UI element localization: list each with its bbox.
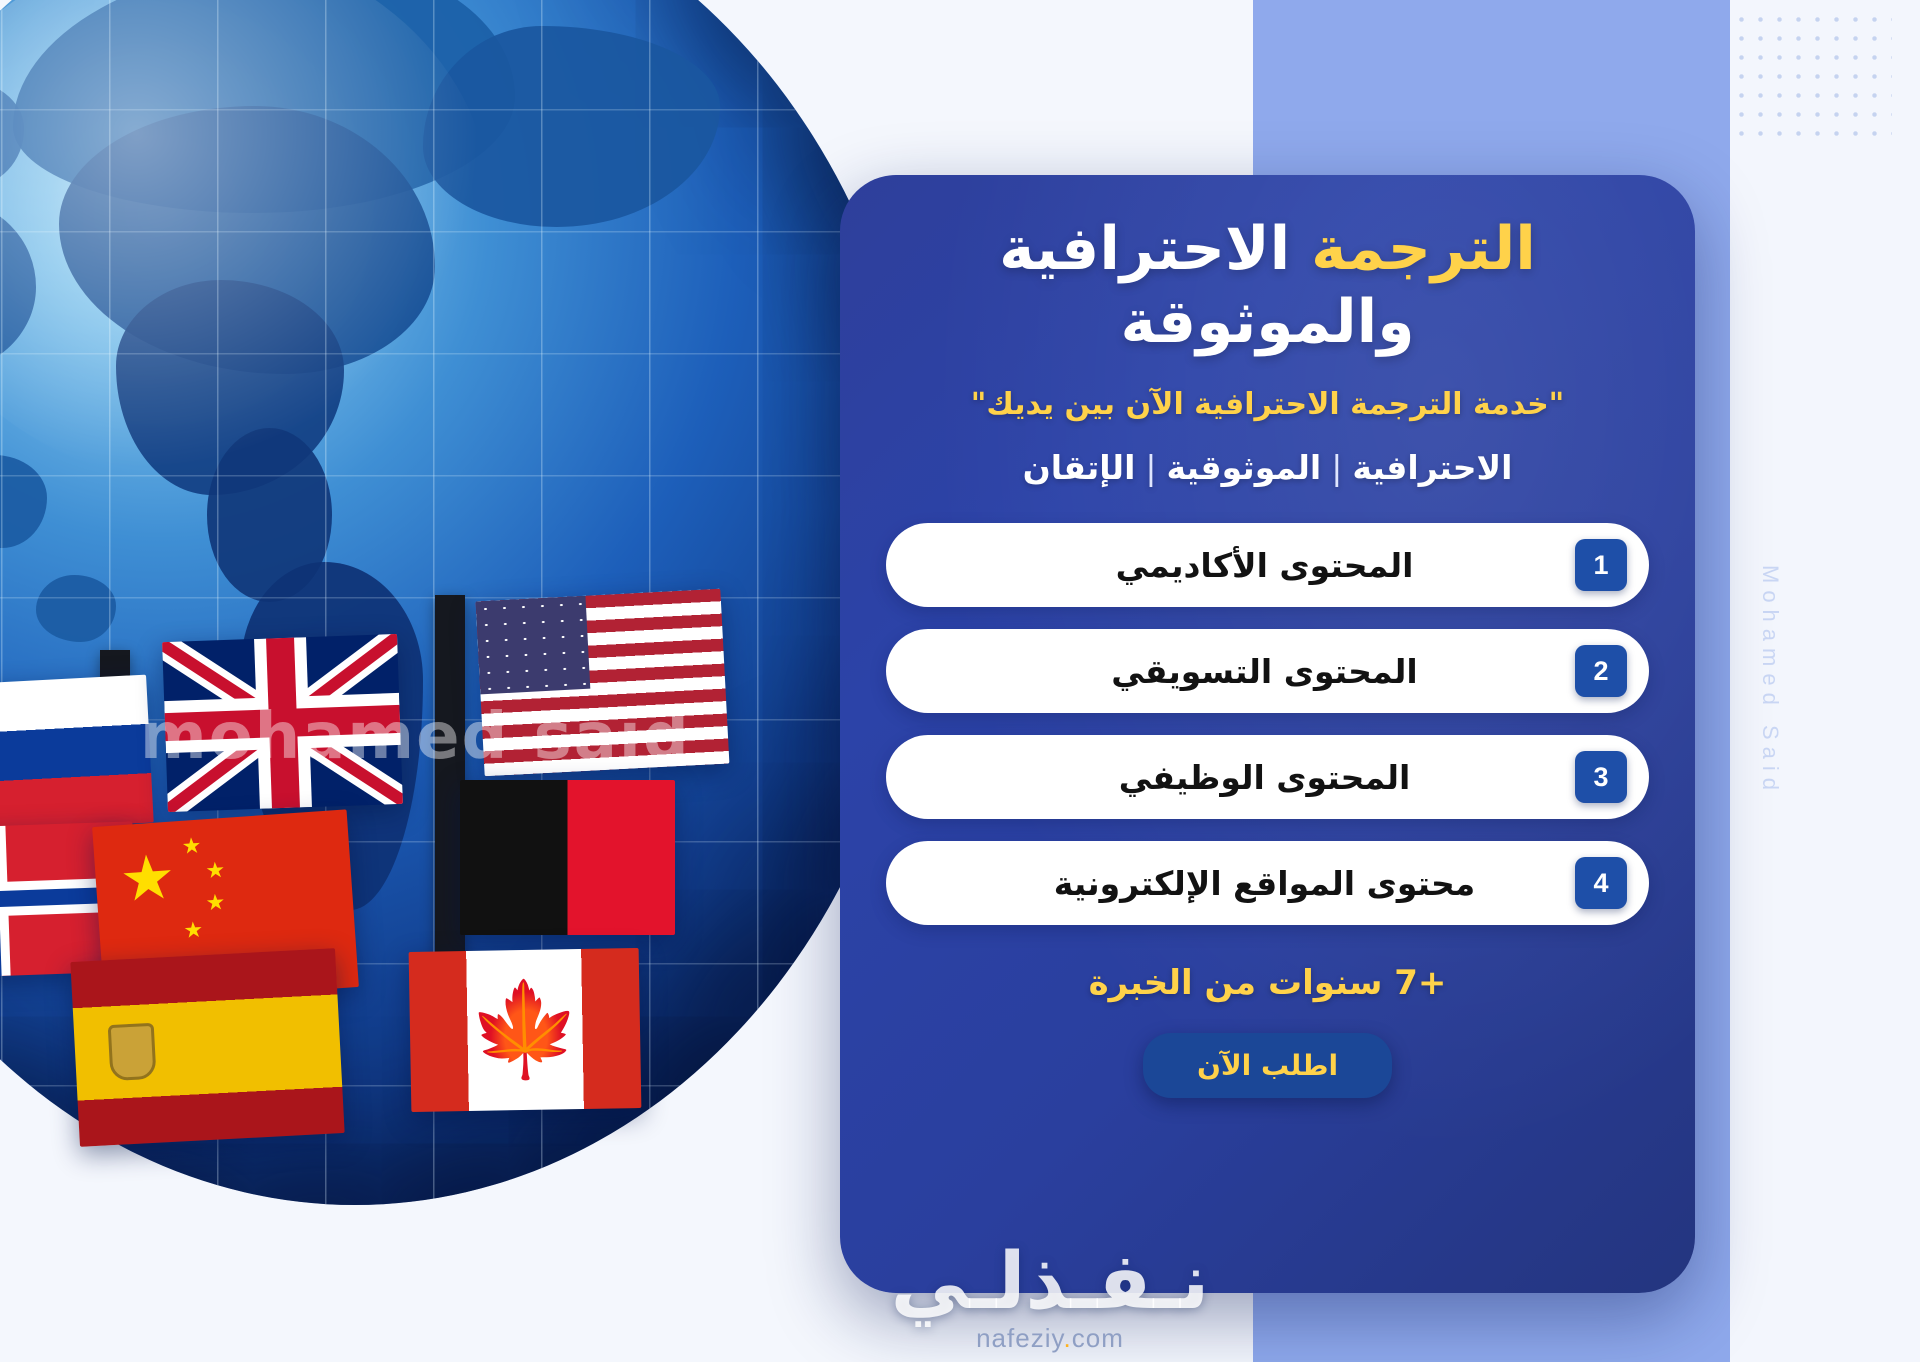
flag-usa bbox=[476, 589, 730, 777]
list-item[interactable]: 3 المحتوى الوظيفي bbox=[886, 735, 1649, 819]
content-card: الترجمة الاحترافية والموثوقة "خدمة الترج… bbox=[840, 175, 1695, 1293]
landmass-shape bbox=[36, 575, 116, 642]
separator-pipe: | bbox=[1321, 448, 1352, 487]
landmass-shape bbox=[207, 428, 332, 602]
flag-russia bbox=[0, 675, 154, 834]
value-prop-3: الإتقان bbox=[1023, 448, 1136, 487]
service-label: المحتوى الوظيفي bbox=[914, 758, 1575, 797]
tagline: "خدمة الترجمة الاحترافية الآن بين يديك" bbox=[971, 387, 1565, 422]
service-label: المحتوى الأكاديمي bbox=[914, 546, 1575, 585]
service-number-badge: 3 bbox=[1575, 751, 1627, 803]
value-props: الاحترافية|الموثوقية|الإتقان bbox=[1023, 448, 1513, 487]
landmass-shape bbox=[0, 79, 24, 186]
service-label: المحتوى التسويقي bbox=[914, 652, 1575, 691]
landmass-shape bbox=[116, 280, 344, 494]
flag-spain bbox=[70, 948, 344, 1147]
flags-cluster: ★ ★ ★ ★ ★ 🍁 bbox=[0, 690, 880, 1330]
service-number-badge: 2 bbox=[1575, 645, 1627, 697]
service-number-badge: 4 bbox=[1575, 857, 1627, 909]
value-prop-1: الاحترافية bbox=[1352, 448, 1512, 487]
landmass-shape bbox=[13, 0, 515, 213]
brand-latin-name: nafeziy.com bbox=[840, 1323, 1260, 1354]
poster-canvas: Mohamed Said bbox=[0, 0, 1920, 1362]
service-label: محتوى المواقع الإلكترونية bbox=[914, 864, 1575, 903]
landmass-shape bbox=[59, 106, 435, 374]
landmass-shape bbox=[0, 200, 36, 374]
brand-latin-pre: nafeziy bbox=[976, 1323, 1063, 1353]
brand-latin-dot: . bbox=[1064, 1323, 1072, 1353]
order-now-button[interactable]: اطلب الآن bbox=[1143, 1033, 1392, 1098]
separator-pipe: | bbox=[1135, 448, 1166, 487]
page-title: الترجمة الاحترافية والموثوقة bbox=[999, 213, 1536, 359]
flag-united-kingdom bbox=[162, 634, 403, 812]
flag-canada: 🍁 bbox=[409, 948, 642, 1112]
globe-highlight bbox=[0, 0, 492, 481]
flag-germany-black-red bbox=[460, 780, 675, 935]
value-prop-2: الموثوقية bbox=[1167, 448, 1322, 487]
service-number-badge: 1 bbox=[1575, 539, 1627, 591]
service-list: 1 المحتوى الأكاديمي 2 المحتوى التسويقي 3… bbox=[886, 523, 1649, 925]
experience-text: +7 سنوات من الخبرة bbox=[1089, 963, 1447, 1003]
landmass-shape bbox=[423, 26, 719, 227]
brand-latin-post: com bbox=[1072, 1323, 1124, 1353]
headline-line1-rest: الاحترافية bbox=[999, 214, 1311, 284]
vertical-credit-text: Mohamed Said bbox=[1720, 0, 1820, 1362]
list-item[interactable]: 1 المحتوى الأكاديمي bbox=[886, 523, 1649, 607]
headline-line2: والموثوقة bbox=[999, 286, 1536, 359]
headline-accent-word: الترجمة bbox=[1311, 214, 1536, 284]
list-item[interactable]: 4 محتوى المواقع الإلكترونية bbox=[886, 841, 1649, 925]
landmass-shape bbox=[0, 455, 47, 549]
list-item[interactable]: 2 المحتوى التسويقي bbox=[886, 629, 1649, 713]
